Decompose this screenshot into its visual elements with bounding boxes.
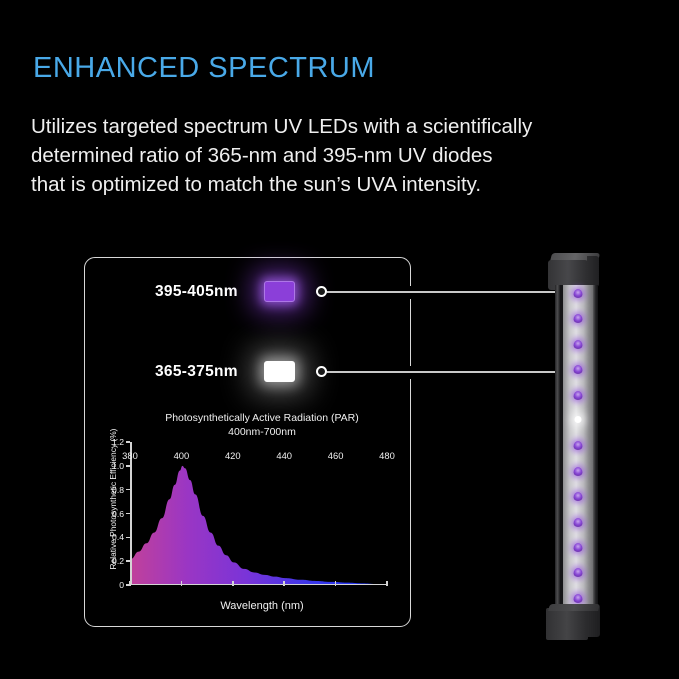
chart-x-tick-label: 440 <box>276 450 292 461</box>
violet-led <box>574 365 583 374</box>
chart-x-tick <box>129 581 131 586</box>
chart-y-tick <box>126 489 130 491</box>
legend-swatch-395-405nm <box>264 281 295 302</box>
violet-led <box>574 492 583 501</box>
chart-y-tick <box>126 537 130 539</box>
chart-subtitle: 400nm-700nm <box>126 426 398 440</box>
chart-x-tick <box>386 581 388 586</box>
chart-y-tick-label: 1.2 <box>112 437 124 447</box>
chart-x-tick-label: 460 <box>328 450 344 461</box>
border-gap-bottom <box>407 366 413 379</box>
chart-x-axis-label: Wavelength (nm) <box>126 600 398 612</box>
chart-x-tick <box>232 581 234 586</box>
chart-y-tick-label: 0.2 <box>112 556 124 566</box>
bar-rail-left-inner <box>560 285 563 615</box>
page-title: ENHANCED SPECTRUM <box>33 52 375 85</box>
legend-item-365-375nm: 365-375nm <box>155 361 295 382</box>
violet-led <box>574 568 583 577</box>
chart-y-axis-line <box>130 442 132 585</box>
bar-bottom-cap-front-face <box>546 608 588 640</box>
leader-line-395-405nm <box>327 291 567 293</box>
legend-item-395-405nm: 395-405nm <box>155 281 295 302</box>
chart-x-tick-label: 380 <box>122 450 138 461</box>
violet-led <box>574 289 583 298</box>
violet-led <box>574 543 583 552</box>
chart-x-tick-label: 400 <box>174 450 190 461</box>
uv-led-bar <box>543 253 619 647</box>
chart-x-tick-label: 420 <box>225 450 241 461</box>
chart-y-tick <box>126 560 130 562</box>
leader-node-365-375nm <box>316 366 327 377</box>
violet-led <box>574 594 583 603</box>
bar-rail-right <box>593 285 598 615</box>
chart-x-tick-label: 480 <box>379 450 395 461</box>
violet-led <box>574 340 583 349</box>
description-line-1: Utilizes targeted spectrum UV LEDs with … <box>31 112 631 141</box>
chart-y-tick <box>126 465 130 467</box>
chart-y-tick-label: 1.0 <box>112 461 124 471</box>
legend-swatch-365-375nm <box>264 361 295 382</box>
chart-x-axis-line <box>130 584 388 586</box>
chart-y-tick <box>126 513 130 515</box>
description-line-3: that is optimized to match the sun’s UVA… <box>31 170 631 199</box>
chart-area-curve <box>131 442 388 585</box>
bar-body <box>563 285 593 615</box>
chart-title-main: Photosynthetically Active Radiation (PAR… <box>126 412 398 426</box>
chart-y-tick <box>126 441 130 443</box>
bar-bottom-cap-top-face <box>548 604 600 611</box>
description-line-2: determined ratio of 365-nm and 395-nm UV… <box>31 141 631 170</box>
violet-led <box>574 391 583 400</box>
chart-plot-area: 00.20.40.60.81.01.2 380400420440460480 <box>130 442 388 585</box>
description-text: Utilizes targeted spectrum UV LEDs with … <box>31 112 631 199</box>
chart-x-tick <box>335 581 337 586</box>
par-chart: Photosynthetically Active Radiation (PAR… <box>98 412 398 617</box>
chart-y-tick-label: 0.6 <box>112 509 124 519</box>
chart-title: Photosynthetically Active Radiation (PAR… <box>126 412 398 439</box>
bar-top-cap-side-face <box>587 256 599 287</box>
chart-y-tick-label: 0.4 <box>112 532 124 542</box>
leader-node-395-405nm <box>316 286 327 297</box>
white-led <box>575 416 582 423</box>
chart-x-tick <box>283 581 285 586</box>
violet-led <box>574 518 583 527</box>
violet-led <box>574 441 583 450</box>
legend-label-365-375nm: 365-375nm <box>155 363 238 381</box>
violet-led <box>574 467 583 476</box>
chart-x-tick <box>181 581 183 586</box>
leader-line-365-375nm <box>327 371 567 373</box>
violet-led <box>574 314 583 323</box>
border-gap-top <box>407 286 413 299</box>
chart-y-tick-label: 0 <box>119 580 124 590</box>
chart-y-tick-label: 0.8 <box>112 485 124 495</box>
legend-label-395-405nm: 395-405nm <box>155 283 238 301</box>
